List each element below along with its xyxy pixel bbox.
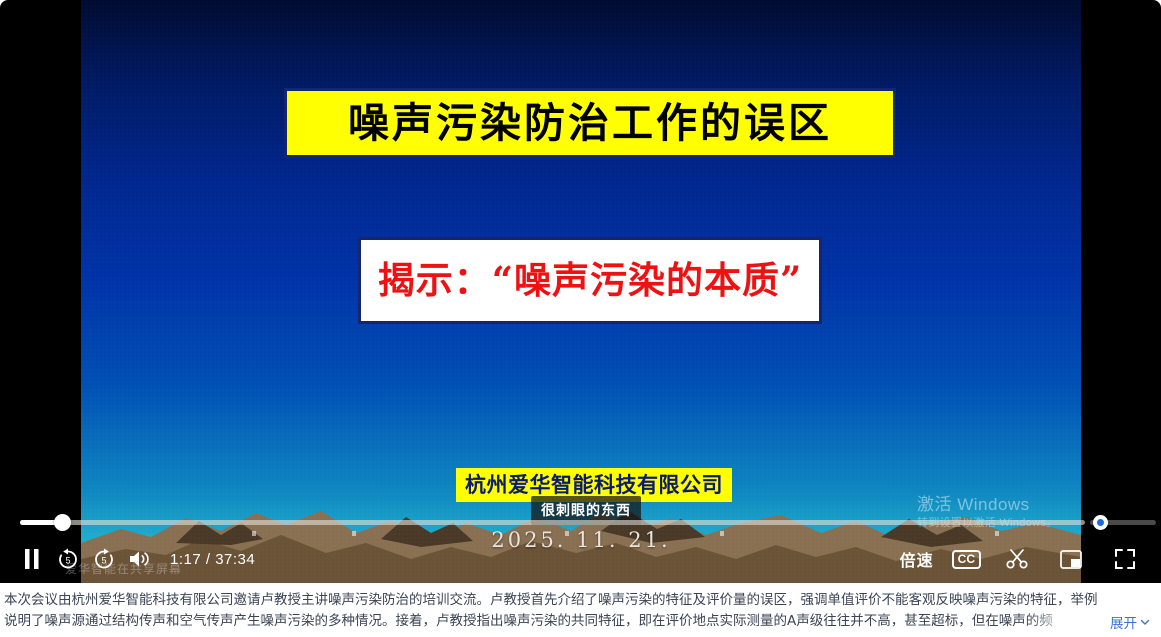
player-controls-right: 倍速 CC (900, 535, 1161, 583)
slide-company-text: 杭州爱华智能科技有限公司 (465, 475, 723, 496)
expand-summary-label: 展开 (1110, 612, 1137, 632)
captions-button[interactable]: CC (952, 550, 981, 569)
volume-icon (128, 549, 152, 569)
progress-bar-area[interactable] (0, 509, 1161, 535)
svg-text:5: 5 (101, 555, 106, 565)
video-player[interactable]: 噪声污染防治工作的误区 揭示：“噪声污染的本质” 杭州爱华智能科技有限公司 20… (0, 0, 1161, 583)
chevron-down-icon (1139, 616, 1151, 628)
playback-speed-button[interactable]: 倍速 (900, 547, 934, 571)
picture-in-picture-button[interactable] (1053, 541, 1089, 577)
pause-icon (24, 549, 40, 569)
presentation-slide: 噪声污染防治工作的误区 揭示：“噪声污染的本质” 杭州爱华智能科技有限公司 20… (81, 0, 1081, 583)
slide-title-text: 噪声污染防治工作的误区 (348, 103, 832, 144)
slide-subtitle-text: 揭示：“噪声污染的本质” (378, 262, 803, 299)
pause-button[interactable] (14, 541, 50, 577)
summary-line-1: 本次会议由杭州爱华智能科技有限公司邀请卢教授主讲噪声污染防治的培训交流。卢教授首… (4, 590, 1157, 611)
forward-5-button[interactable]: 5 (86, 541, 122, 577)
fullscreen-icon (1115, 549, 1135, 569)
forward-5-icon: 5 (92, 547, 116, 571)
clip-button[interactable] (999, 541, 1035, 577)
fullscreen-button[interactable] (1107, 541, 1143, 577)
volume-slider-handle[interactable] (1093, 515, 1108, 530)
player-controls: 5 5 (0, 535, 1161, 583)
slide-title-box: 噪声污染防治工作的误区 (284, 88, 896, 158)
scissors-icon (1006, 548, 1028, 570)
progress-handle[interactable] (54, 514, 71, 531)
volume-button[interactable] (122, 541, 158, 577)
svg-text:5: 5 (65, 555, 70, 565)
video-summary: 本次会议由杭州爱华智能科技有限公司邀请卢教授主讲噪声污染防治的培训交流。卢教授首… (0, 590, 1161, 637)
expand-summary-button[interactable]: 展开 (1110, 612, 1151, 632)
time-display: 1:17 / 37:34 (170, 551, 255, 568)
player-controls-left: 5 5 (0, 535, 255, 583)
summary-line-2: 说明了噪声源通过结构传声和空气传声产生噪声污染的多种情况。接着，卢教授指出噪声污… (4, 611, 1157, 632)
rewind-5-icon: 5 (56, 547, 80, 571)
progress-track[interactable] (20, 520, 1085, 525)
page-root: 噪声污染防治工作的误区 揭示：“噪声污染的本质” 杭州爱华智能科技有限公司 20… (0, 0, 1161, 637)
slide-subtitle-box: 揭示：“噪声污染的本质” (358, 237, 822, 324)
rewind-5-button[interactable]: 5 (50, 541, 86, 577)
picture-in-picture-icon (1060, 550, 1082, 569)
